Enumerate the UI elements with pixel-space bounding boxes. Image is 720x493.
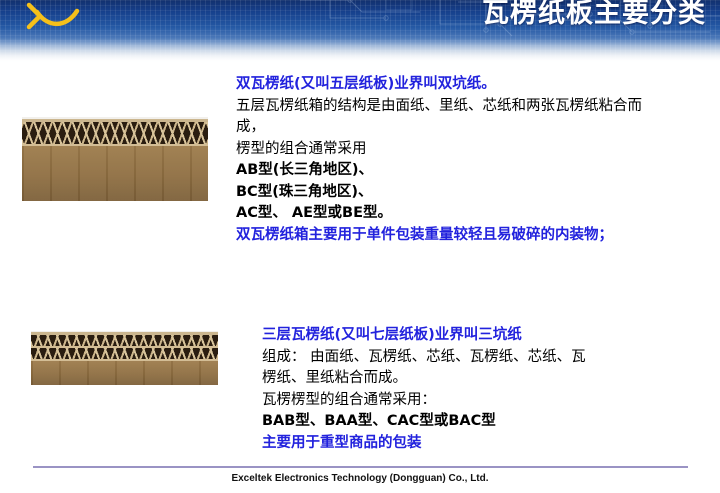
text-line: 瓦楞楞型的组合通常采用： xyxy=(262,390,586,412)
text-line: AC型、 AE型或BE型。 xyxy=(236,203,642,225)
text-line: 双瓦楞纸箱主要用于单件包装重量较轻且易破碎的内装物； xyxy=(236,225,642,247)
text-line: BC型(珠三角地区)、 xyxy=(236,182,642,204)
board-flute-layer-lower xyxy=(31,348,218,359)
text-line: 组成： 由面纸、瓦楞纸、芯纸、瓦楞纸、芯纸、瓦 xyxy=(262,347,586,369)
text-line: 楞纸、里纸粘合而成。 xyxy=(262,368,586,390)
text-line: 三层瓦楞纸(又叫七层纸板)业界叫三坑纸 xyxy=(262,325,586,347)
text-line: 楞型的组合通常采用 xyxy=(236,139,642,161)
section-two-text: 三层瓦楞纸(又叫七层纸板)业界叫三坑纸 组成： 由面纸、瓦楞纸、芯纸、瓦楞纸、芯… xyxy=(262,325,586,454)
banner-fade xyxy=(0,38,720,64)
section-one-text: 双瓦楞纸(又叫五层纸板)业界叫双坑纸。 五层瓦楞纸箱的结构是由面纸、里纸、芯纸和… xyxy=(236,74,642,246)
board-kraft-face xyxy=(22,146,208,201)
board-flute-layer xyxy=(22,122,208,144)
board-kraft-face xyxy=(31,361,218,385)
exceltek-logo-icon xyxy=(26,2,80,32)
text-line: AB型(长三角地区)、 xyxy=(236,160,642,182)
slide: 瓦楞纸板主要分类 双瓦楞纸(又叫五层纸板)业界叫双坑纸。 五层瓦楞纸箱的结构是由… xyxy=(0,0,720,493)
board-cross-section-graphic xyxy=(22,117,208,201)
double-wall-board-photo xyxy=(22,117,208,201)
board-flute-layer-upper xyxy=(31,335,218,346)
text-line: BAB型、BAA型、CAC型或BAC型 xyxy=(262,411,586,433)
text-line: 成， xyxy=(236,117,642,139)
text-line: 主要用于重型商品的包装 xyxy=(262,433,586,455)
triple-wall-board-photo xyxy=(31,331,218,385)
text-line: 五层瓦楞纸箱的结构是由面纸、里纸、芯纸和两张瓦楞纸粘合而 xyxy=(236,96,642,118)
footer-company-name: Exceltek Electronics Technology (Donggua… xyxy=(0,473,720,484)
text-line: 双瓦楞纸(又叫五层纸板)业界叫双坑纸。 xyxy=(236,74,642,96)
board-cross-section-graphic xyxy=(31,331,218,385)
footer-divider xyxy=(33,466,688,468)
page-title: 瓦楞纸板主要分类 xyxy=(482,0,706,30)
